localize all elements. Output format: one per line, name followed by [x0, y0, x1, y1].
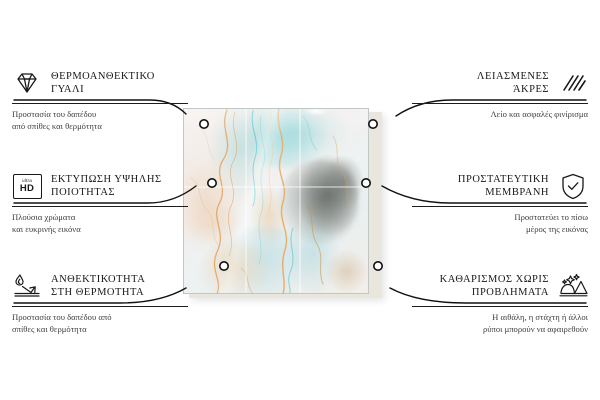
feature-divider [12, 306, 188, 307]
feature-divider [412, 306, 588, 307]
feature-heat-durability: ΑΝΘΕΚΤΙΚΟΤΗΤΑ ΣΤΗ ΘΕΡΜΟΤΗΤΑ Προστασία το… [12, 269, 188, 335]
feature-title-line2: ΠΟΙΟΤΗΤΑΣ [51, 187, 115, 198]
feature-desc-line2: και ευκρινής εικόνα [12, 224, 188, 236]
feature-header: ΚΑΘΑΡΙΣΜΟΣ ΧΩΡΙΣ ΠΡΟΒΛΗΜΑΤΑ [412, 269, 588, 303]
feature-title-line2: ΣΤΗ ΘΕΡΜΟΤΗΤΑ [51, 287, 144, 298]
feature-title-line1: ΘΕΡΜΟΑΝΘΕΚΤΙΚΟ [51, 71, 155, 82]
feature-title-line2: ΆΚΡΕΣ [513, 84, 549, 95]
product-feature-infographic: ΘΕΡΜΟΑΝΘΕΚΤΙΚΟ ΓΥΑΛΙ Προστασία του δαπέδ… [0, 0, 600, 400]
ink-vein-overlay [183, 108, 369, 294]
feature-header: ΠΡΟΣΤΑΤΕΥΤΙΚΗ ΜΕΜΒΡΑΝΗ [412, 169, 588, 203]
feature-header: ΘΕΡΜΟΑΝΘΕΚΤΙΚΟ ΓΥΑΛΙ [12, 66, 188, 100]
feature-title-line1: ΠΡΟΣΤΑΤΕΥΤΙΚΗ [458, 174, 549, 185]
shield-check-icon [558, 171, 588, 201]
feature-title: ΘΕΡΜΟΑΝΘΕΚΤΙΚΟ ΓΥΑΛΙ [51, 70, 155, 96]
feature-title-line1: ΛΕΙΑΣΜΕΝΕΣ [477, 71, 549, 82]
feature-description: Προστασία του δαπέδου από σπίθες και θερ… [12, 109, 188, 132]
feature-description: Λείο και ασφαλές φινίρισμα [412, 109, 588, 121]
feature-title: ΠΡΟΣΤΑΤΕΥΤΙΚΗ ΜΕΜΒΡΑΝΗ [458, 173, 549, 199]
feature-description: Προστατεύει το πίσω μέρος της εικόνας [412, 212, 588, 235]
feature-title: ΚΑΘΑΡΙΣΜΟΣ ΧΩΡΙΣ ΠΡΟΒΛΗΜΑΤΑ [440, 273, 549, 299]
feature-heat-resistant-glass: ΘΕΡΜΟΑΝΘΕΚΤΙΚΟ ΓΥΑΛΙ Προστασία του δαπέδ… [12, 66, 188, 132]
feature-high-quality-print: ultra HD ΕΚΤΥΠΩΣΗ ΥΨΗΛΗΣ ΠΟΙΟΤΗΤΑΣ Πλούσ… [12, 169, 188, 235]
heat-resistant-icon [12, 271, 42, 301]
feature-title-line1: ΑΝΘΕΚΤΙΚΟΤΗΤΑ [51, 274, 145, 285]
feature-desc-line2: σπίθες και θερμότητα [12, 324, 188, 336]
feature-desc-line1: Προστατεύει το πίσω [412, 212, 588, 224]
easy-clean-icon [558, 271, 588, 301]
feature-divider [12, 103, 188, 104]
feature-desc-line1: Προστασία του δαπέδου [12, 109, 188, 121]
feature-divider [12, 206, 188, 207]
feature-title-line2: ΓΥΑΛΙ [51, 84, 84, 95]
feature-title-line2: ΠΡΟΒΛΗΜΑΤΑ [472, 287, 549, 298]
ultra-hd-badge: ultra HD [13, 174, 42, 199]
feature-polished-edges: ΛΕΙΑΣΜΕΝΕΣ ΆΚΡΕΣ Λείο και ασφαλές φινίρι… [412, 66, 588, 121]
feature-desc-line2: μέρος της εικόνας [412, 224, 588, 236]
polished-edges-icon [558, 68, 588, 98]
feature-header: ΑΝΘΕΚΤΙΚΟΤΗΤΑ ΣΤΗ ΘΕΡΜΟΤΗΤΑ [12, 269, 188, 303]
feature-easy-cleaning: ΚΑΘΑΡΙΣΜΟΣ ΧΩΡΙΣ ΠΡΟΒΛΗΜΑΤΑ Η αιθάλη, η … [412, 269, 588, 335]
feature-divider [412, 103, 588, 104]
product-image-stage [183, 108, 378, 296]
feature-desc-line1: Η αιθάλη, η στάχτη ή άλλοι [412, 312, 588, 324]
ultra-hd-icon: ultra HD [12, 171, 42, 201]
feature-desc-line2: από σπίθες και θερμότητα [12, 121, 188, 133]
feature-title-line1: ΕΚΤΥΠΩΣΗ ΥΨΗΛΗΣ [51, 174, 162, 185]
feature-divider [412, 206, 588, 207]
feature-desc-line1: Λείο και ασφαλές φινίρισμα [412, 109, 588, 121]
diamond-icon [12, 68, 42, 98]
feature-desc-line1: Προστασία του δαπέδου από [12, 312, 188, 324]
feature-desc-line2: ρύποι μπορούν να αφαιρεθούν [412, 324, 588, 336]
feature-header: ΛΕΙΑΣΜΕΝΕΣ ΆΚΡΕΣ [412, 66, 588, 100]
feature-header: ultra HD ΕΚΤΥΠΩΣΗ ΥΨΗΛΗΣ ΠΟΙΟΤΗΤΑΣ [12, 169, 188, 203]
feature-desc-line1: Πλούσια χρώματα [12, 212, 188, 224]
feature-title: ΑΝΘΕΚΤΙΚΟΤΗΤΑ ΣΤΗ ΘΕΡΜΟΤΗΤΑ [51, 273, 145, 299]
feature-protective-membrane: ΠΡΟΣΤΑΤΕΥΤΙΚΗ ΜΕΜΒΡΑΝΗ Προστατεύει το πί… [412, 169, 588, 235]
feature-title-line2: ΜΕΜΒΡΑΝΗ [485, 187, 549, 198]
feature-description: Προστασία του δαπέδου από σπίθες και θερ… [12, 312, 188, 335]
feature-title: ΕΚΤΥΠΩΣΗ ΥΨΗΛΗΣ ΠΟΙΟΤΗΤΑΣ [51, 173, 162, 199]
feature-description: Πλούσια χρώματα και ευκρινής εικόνα [12, 212, 188, 235]
feature-description: Η αιθάλη, η στάχτη ή άλλοι ρύποι μπορούν… [412, 312, 588, 335]
feature-title-line1: ΚΑΘΑΡΙΣΜΟΣ ΧΩΡΙΣ [440, 274, 549, 285]
ultra-hd-badge-bottom: HD [20, 184, 34, 194]
feature-title: ΛΕΙΑΣΜΕΝΕΣ ΆΚΡΕΣ [477, 70, 549, 96]
product-image [183, 108, 369, 294]
